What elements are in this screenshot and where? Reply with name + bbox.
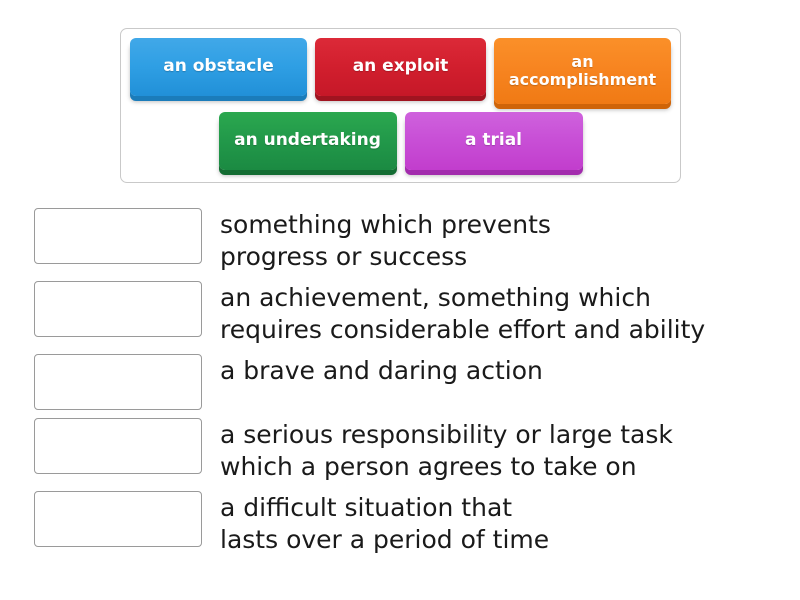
definition-text-2: an achievement, something which requires… <box>220 281 705 346</box>
word-tile-an-accomplishment[interactable]: an accomplishment <box>494 38 671 104</box>
definition-row: a brave and daring action <box>34 354 779 410</box>
definition-row: a difficult situation that lasts over a … <box>34 491 779 556</box>
definition-row: a serious responsibility or large task w… <box>34 418 779 483</box>
definition-row: an achievement, something which requires… <box>34 281 779 346</box>
definition-text-3: a brave and daring action <box>220 354 543 387</box>
definition-list: something which prevents progress or suc… <box>34 208 779 564</box>
tile-bank-row-2: an undertaking a trial <box>130 112 671 170</box>
tile-bank-row-1: an obstacle an exploit an accomplishment <box>130 38 671 104</box>
word-tile-an-undertaking[interactable]: an undertaking <box>219 112 397 170</box>
definition-row: something which prevents progress or suc… <box>34 208 779 273</box>
drop-zone-2[interactable] <box>34 281 202 337</box>
word-tile-an-exploit[interactable]: an exploit <box>315 38 486 96</box>
drop-zone-3[interactable] <box>34 354 202 410</box>
drop-zone-5[interactable] <box>34 491 202 547</box>
definition-text-5: a difficult situation that lasts over a … <box>220 491 549 556</box>
definition-text-4: a serious responsibility or large task w… <box>220 418 673 483</box>
definition-text-1: something which prevents progress or suc… <box>220 208 551 273</box>
word-tile-a-trial[interactable]: a trial <box>405 112 583 170</box>
drop-zone-4[interactable] <box>34 418 202 474</box>
word-tile-bank: an obstacle an exploit an accomplishment… <box>120 28 681 183</box>
word-tile-an-obstacle[interactable]: an obstacle <box>130 38 307 96</box>
drop-zone-1[interactable] <box>34 208 202 264</box>
